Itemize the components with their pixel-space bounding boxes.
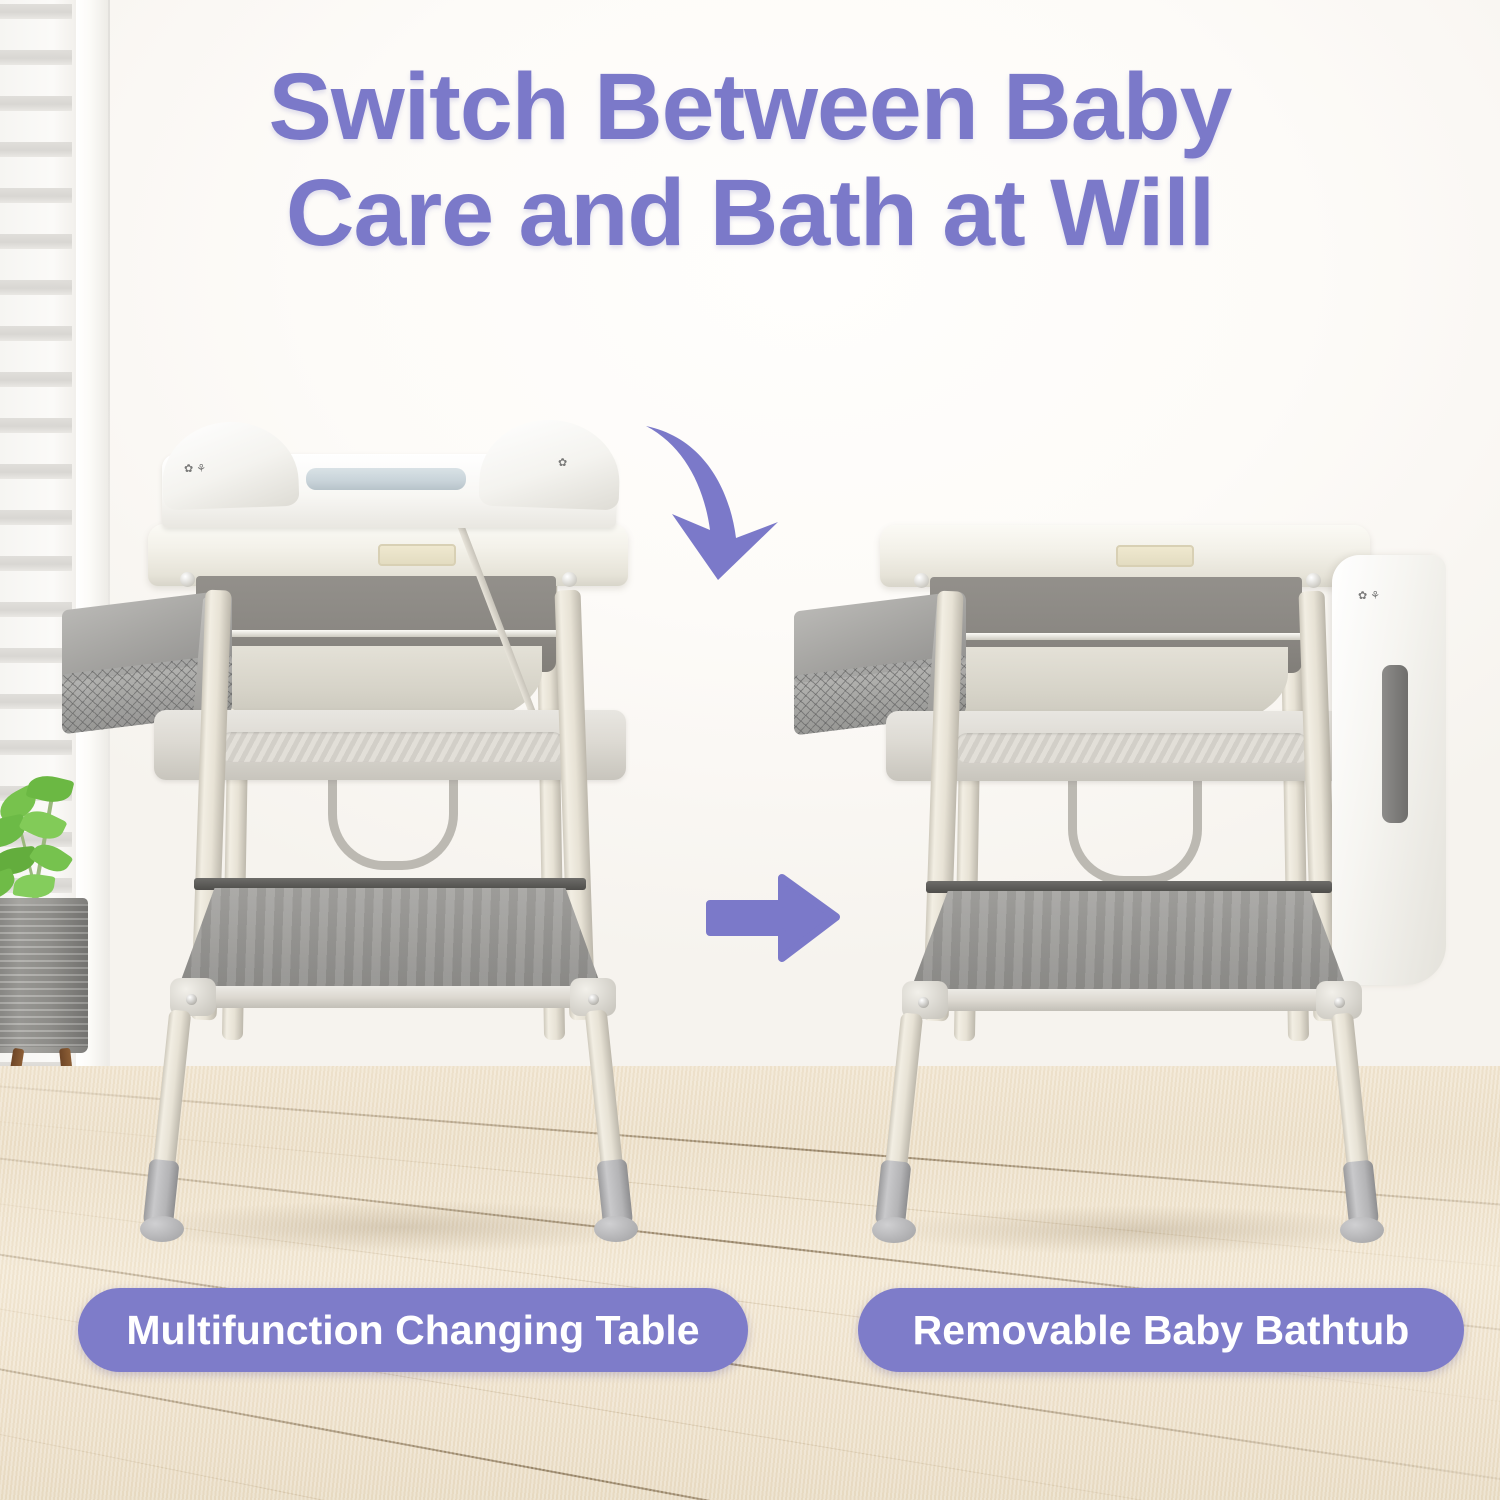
leg-cap-left — [140, 1216, 184, 1242]
floor-shadow — [878, 1205, 1398, 1255]
product-right-baby-bathtub: ✿ ⚘ — [838, 505, 1458, 1255]
shutter-slat — [0, 740, 72, 755]
tub-rail — [182, 630, 574, 637]
shutter-slat — [0, 510, 72, 525]
page-title: Switch Between Baby Care and Bath at Wil… — [0, 54, 1500, 267]
pad-print-folded: ✿ ⚘ — [1358, 591, 1380, 602]
support-bar-grip — [220, 732, 564, 762]
floor-plank-seam — [0, 1366, 1500, 1500]
shutter-slat — [0, 372, 72, 387]
product-left-changing-table: ✿ ⚘ ✿ — [110, 420, 700, 1250]
shell-handle — [1116, 545, 1194, 567]
label-multifunction-changing-table: Multifunction Changing Table — [78, 1288, 748, 1372]
fabric-storage-shelf — [908, 891, 1350, 997]
shutter-slat — [0, 556, 72, 571]
joint-screw-left — [186, 994, 197, 1005]
shutter-slat — [0, 326, 72, 341]
tub-rail-knob-right — [1306, 573, 1321, 588]
shutter-slat — [0, 280, 72, 295]
curved-down-arrow — [626, 402, 806, 582]
shelf-lower-bar — [182, 986, 602, 1008]
product-marketing-image: ✿ ⚘ ✿ ✿ ⚘ — [0, 0, 1500, 1500]
label-removable-baby-bathtub: Removable Baby Bathtub — [858, 1288, 1464, 1372]
floor-plank-seam — [0, 1468, 1500, 1500]
leg-cap-right — [1340, 1217, 1384, 1243]
pad-pillow — [306, 468, 466, 490]
joint-screw-left — [918, 997, 929, 1008]
floor-plank-seam-soft — [0, 1414, 1500, 1500]
pad-print-left: ✿ ⚘ — [184, 464, 206, 475]
shutter-slat — [0, 464, 72, 479]
u-brace — [1068, 767, 1202, 885]
shell-handle — [378, 544, 456, 566]
right-arrow — [702, 862, 842, 972]
joint-screw-right — [1334, 997, 1345, 1008]
shutter-slat — [0, 4, 72, 19]
shelf-lower-bar — [914, 989, 1350, 1011]
fabric-storage-shelf — [176, 888, 604, 994]
joint-screw-right — [588, 994, 599, 1005]
leg-cap-left — [872, 1217, 916, 1243]
pad-bolster-left — [161, 420, 300, 511]
leg-cap-right — [594, 1216, 638, 1242]
tub-rail-knob-left — [914, 573, 929, 588]
tub-rail-knob-left — [180, 572, 195, 587]
pad-print-right: ✿ — [558, 458, 567, 469]
tub-rail-knob-right — [562, 572, 577, 587]
support-bar-grip — [956, 733, 1308, 763]
shutter-slat — [0, 418, 72, 433]
pad-strap — [1382, 665, 1408, 823]
floor-shadow — [130, 1200, 670, 1254]
tub-rail — [916, 633, 1316, 640]
pad-bolster-right — [479, 418, 622, 511]
